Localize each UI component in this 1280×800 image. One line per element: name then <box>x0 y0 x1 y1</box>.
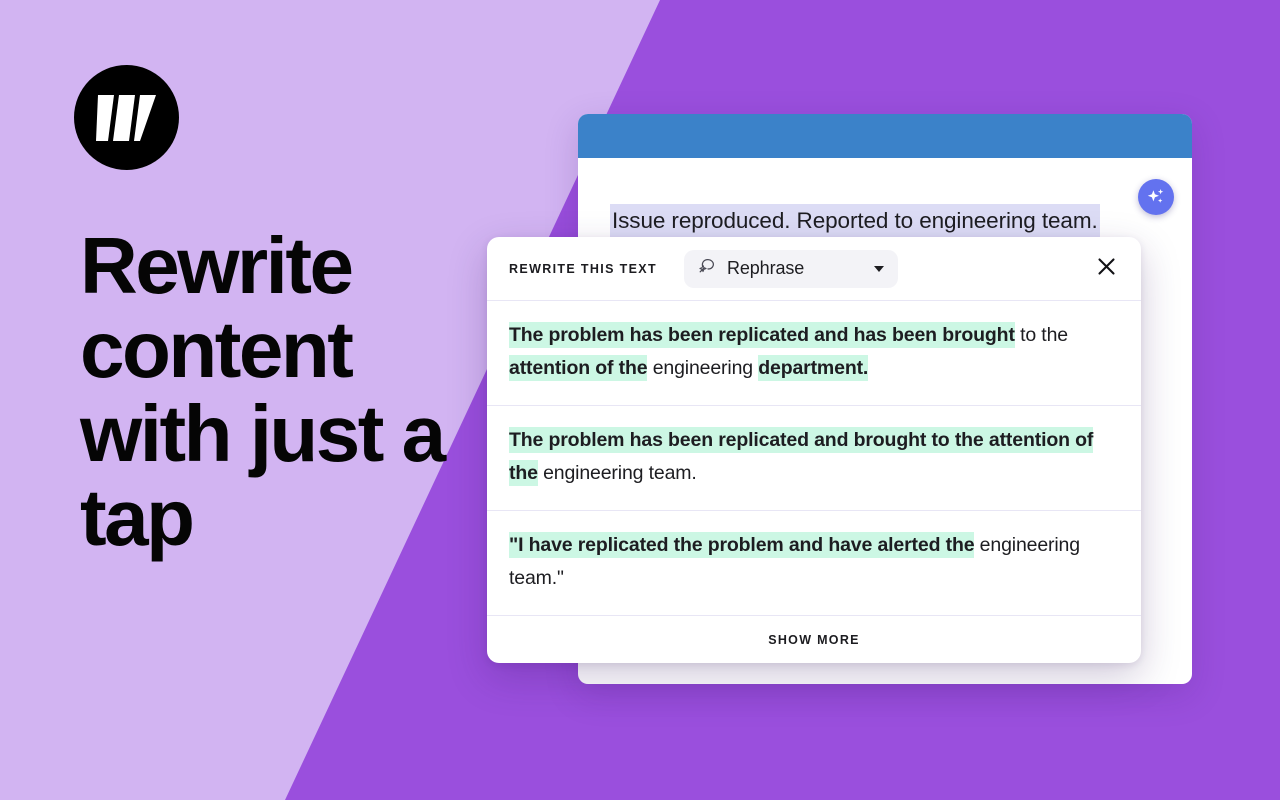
suggestion-text-1: The problem has been replicated and brou… <box>509 424 1119 490</box>
list-item[interactable]: The problem has been replicated and has … <box>487 300 1141 405</box>
page-root: Rewrite content with just a tap Issue re… <box>0 0 1280 800</box>
rewrite-popup-header: REWRITE THIS TEXT Rephrase <box>487 237 1141 300</box>
suggestion-highlight-segment: The problem has been replicated and has … <box>509 322 1015 348</box>
rewrite-popup: REWRITE THIS TEXT Rephrase <box>487 237 1141 663</box>
sparkle-icon <box>1145 186 1167 208</box>
rewrite-mode-dropdown[interactable]: Rephrase <box>684 250 898 288</box>
suggestion-text-2: "I have replicated the problem and have … <box>509 529 1119 595</box>
suggestion-highlight-segment: attention of the <box>509 355 647 381</box>
w-monogram-logo-icon <box>96 93 158 143</box>
document-card-titlebar <box>578 114 1192 158</box>
rewrite-suggestion-list: The problem has been replicated and has … <box>487 300 1141 615</box>
suggestion-plain-segment: to the <box>1015 324 1068 346</box>
document-selected-text[interactable]: Issue reproduced. Reported to engineerin… <box>610 204 1100 237</box>
magic-wand-icon <box>697 256 717 281</box>
ai-sparkle-button[interactable] <box>1138 179 1174 215</box>
show-more-button[interactable]: SHOW MORE <box>487 615 1141 663</box>
brand-logo <box>74 65 179 170</box>
suggestion-text-0: The problem has been replicated and has … <box>509 319 1119 385</box>
document-card-body: Issue reproduced. Reported to engineerin… <box>578 158 1192 240</box>
suggestion-plain-segment: engineering team. <box>538 462 697 484</box>
chevron-down-icon <box>874 266 884 272</box>
list-item[interactable]: The problem has been replicated and brou… <box>487 405 1141 510</box>
page-title: Rewrite content with just a tap <box>80 224 500 560</box>
rewrite-popup-title: REWRITE THIS TEXT <box>509 262 657 276</box>
rewrite-mode-value: Rephrase <box>727 258 804 279</box>
close-button[interactable] <box>1091 254 1121 284</box>
list-item[interactable]: "I have replicated the problem and have … <box>487 510 1141 615</box>
suggestion-plain-segment: engineering <box>647 357 758 379</box>
close-icon <box>1097 257 1116 281</box>
suggestion-highlight-segment: department. <box>758 355 868 381</box>
suggestion-highlight-segment: "I have replicated the problem and have … <box>509 532 974 558</box>
